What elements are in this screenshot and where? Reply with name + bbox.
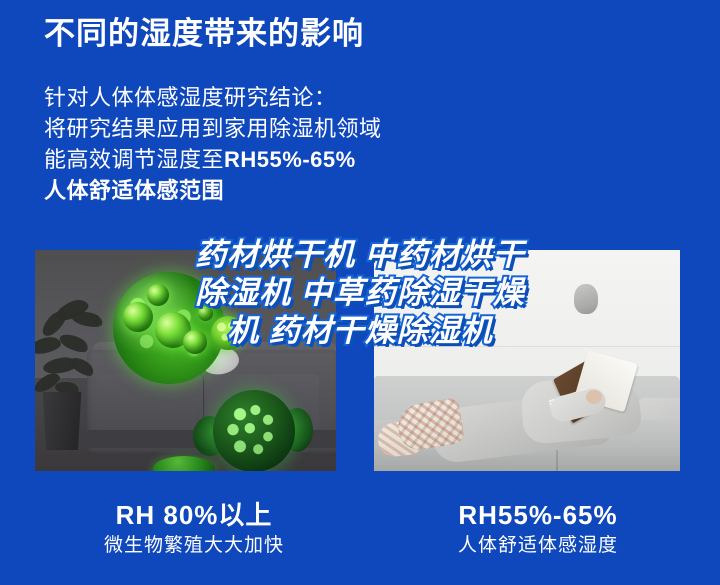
bacteria-ball — [147, 284, 169, 306]
poster-canvas: 不同的湿度带来的影响 针对人体体感湿度研究结论： 将研究结果应用到家用除湿机领域… — [0, 0, 720, 585]
intro-line-1: 针对人体体感湿度研究结论： — [44, 82, 382, 113]
caption-left-description: 微生物繁殖大大加快 — [22, 532, 366, 560]
bacteria-ball — [123, 302, 153, 332]
intro-line-3: 能高效调节湿度至RH55%-65% — [44, 144, 382, 175]
right-photo-sofa-seam — [556, 448, 558, 471]
photo-left-germ-room — [35, 250, 336, 471]
small-germ-cluster — [211, 316, 245, 350]
wall-speaker-icon — [574, 284, 598, 314]
intro-line-4: 人体舒适体感范围 — [44, 175, 382, 206]
page-title: 不同的湿度带来的影响 — [44, 16, 364, 52]
photo-right-comfort-room — [374, 250, 680, 471]
left-photo-cushion-left — [97, 374, 203, 430]
caption-left-value: RH 80%以上 — [22, 498, 366, 532]
caption-left: RH 80%以上 微生物繁殖大大加快 — [0, 498, 366, 578]
intro-line-3-highlight: RH55%-65% — [224, 147, 356, 172]
bacteria-ball — [183, 330, 207, 354]
left-photo-plant — [35, 302, 111, 400]
left-photo-plant-pot — [41, 392, 83, 450]
green-virus-sphere-icon — [213, 390, 295, 471]
intro-line-3-prefix: 能高效调节湿度至 — [44, 147, 224, 172]
person-hand — [586, 390, 602, 404]
bacteria-ball — [198, 306, 213, 321]
caption-right-value: RH55%-65% — [366, 498, 710, 532]
intro-text-block: 针对人体体感湿度研究结论： 将研究结果应用到家用除湿机领域 能高效调节湿度至RH… — [44, 82, 382, 206]
caption-right: RH55%-65% 人体舒适体感湿度 — [366, 498, 720, 578]
right-photo-wall-seam — [374, 346, 680, 347]
caption-row: RH 80%以上 微生物繁殖大大加快 RH55%-65% 人体舒适体感湿度 — [0, 498, 720, 578]
intro-line-2: 将研究结果应用到家用除湿机领域 — [44, 113, 382, 144]
caption-right-description: 人体舒适体感湿度 — [366, 532, 710, 560]
